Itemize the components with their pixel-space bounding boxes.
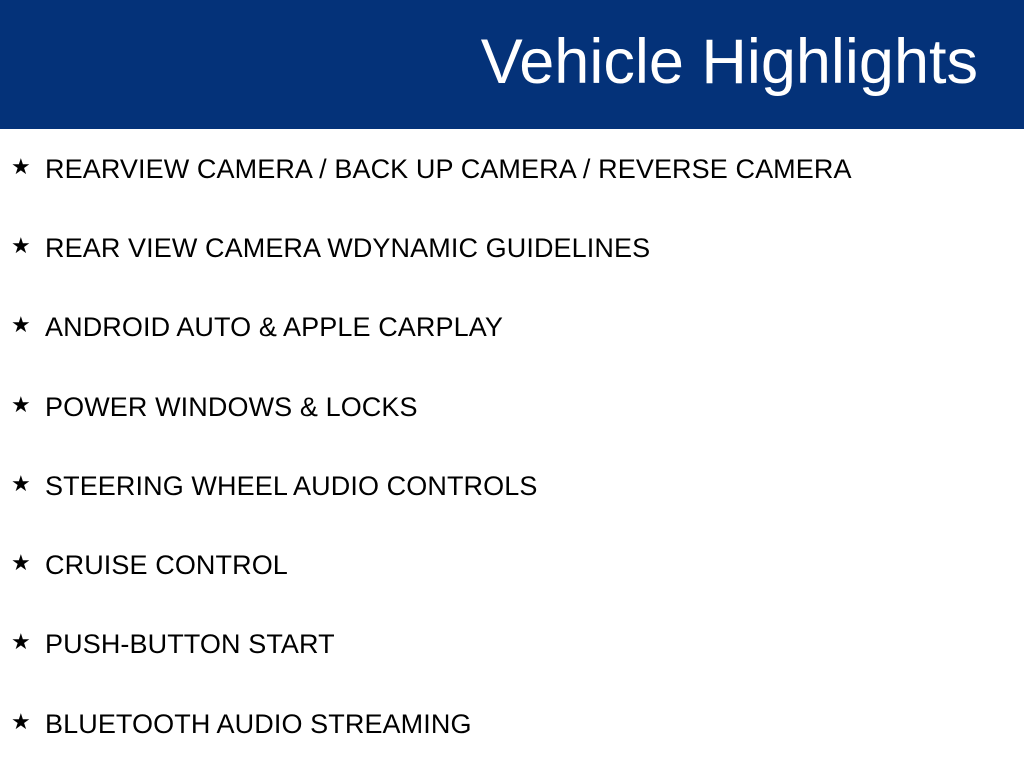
list-item: ★ CRUISE CONTROL <box>0 525 1024 604</box>
list-item-label: POWER WINDOWS & LOCKS <box>45 391 1024 423</box>
star-icon: ★ <box>11 236 31 258</box>
star-icon: ★ <box>11 553 31 575</box>
list-item: ★ STEERING WHEEL AUDIO CONTROLS <box>0 446 1024 525</box>
header-band: Vehicle Highlights <box>0 0 1024 129</box>
star-icon: ★ <box>11 395 31 417</box>
star-icon: ★ <box>11 712 31 734</box>
vehicle-highlights-list: ★ REARVIEW CAMERA / BACK UP CAMERA / REV… <box>0 129 1024 763</box>
page-title: Vehicle Highlights <box>481 26 978 98</box>
list-item: ★ REARVIEW CAMERA / BACK UP CAMERA / REV… <box>0 129 1024 208</box>
list-item: ★ BLUETOOTH AUDIO STREAMING <box>0 684 1024 763</box>
list-item-label: ANDROID AUTO & APPLE CARPLAY <box>45 311 1024 343</box>
list-item: ★ REAR VIEW CAMERA WDYNAMIC GUIDELINES <box>0 208 1024 287</box>
vehicle-highlights-slide: Vehicle Highlights ★ REARVIEW CAMERA / B… <box>0 0 1024 768</box>
list-item-label: STEERING WHEEL AUDIO CONTROLS <box>45 470 1024 502</box>
list-item-label: REAR VIEW CAMERA WDYNAMIC GUIDELINES <box>45 232 1024 264</box>
star-icon: ★ <box>11 315 31 337</box>
list-item-label: BLUETOOTH AUDIO STREAMING <box>45 708 1024 740</box>
list-item: ★ PUSH-BUTTON START <box>0 605 1024 684</box>
list-item: ★ POWER WINDOWS & LOCKS <box>0 367 1024 446</box>
list-item-label: CRUISE CONTROL <box>45 549 1024 581</box>
star-icon: ★ <box>11 474 31 496</box>
star-icon: ★ <box>11 157 31 179</box>
list-item-label: REARVIEW CAMERA / BACK UP CAMERA / REVER… <box>45 153 1024 185</box>
star-icon: ★ <box>11 632 31 654</box>
list-item-label: PUSH-BUTTON START <box>45 628 1024 660</box>
list-item: ★ ANDROID AUTO & APPLE CARPLAY <box>0 288 1024 367</box>
